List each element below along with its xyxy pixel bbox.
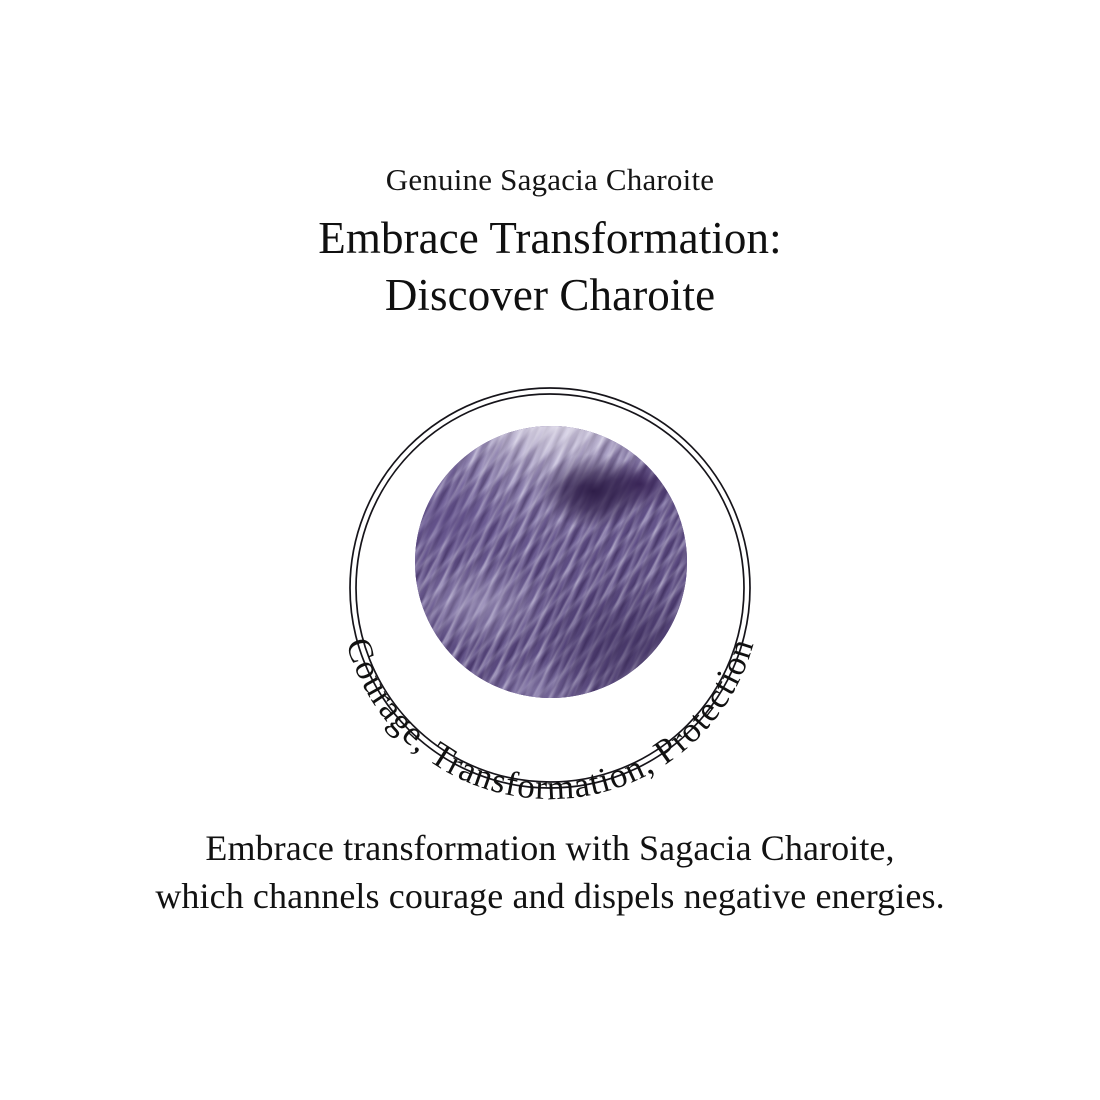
headline-line-2: Discover Charoite xyxy=(0,267,1100,324)
stone-sheen-layer xyxy=(415,426,687,698)
description-caption: Embrace transformation with Sagacia Char… xyxy=(0,824,1100,920)
charoite-stone-image xyxy=(415,426,687,698)
caption-line-2: which channels courage and dispels negat… xyxy=(0,872,1100,920)
page-title: Embrace Transformation: Discover Charoit… xyxy=(0,210,1100,324)
product-card: Genuine Sagacia Charoite Embrace Transfo… xyxy=(0,0,1100,1100)
charoite-badge: Courage, Transformation, Protection xyxy=(320,358,780,818)
eyebrow-label: Genuine Sagacia Charoite xyxy=(0,158,1100,202)
headline-line-1: Embrace Transformation: xyxy=(0,210,1100,267)
caption-line-1: Embrace transformation with Sagacia Char… xyxy=(0,824,1100,872)
header-text-block: Genuine Sagacia Charoite Embrace Transfo… xyxy=(0,158,1100,324)
